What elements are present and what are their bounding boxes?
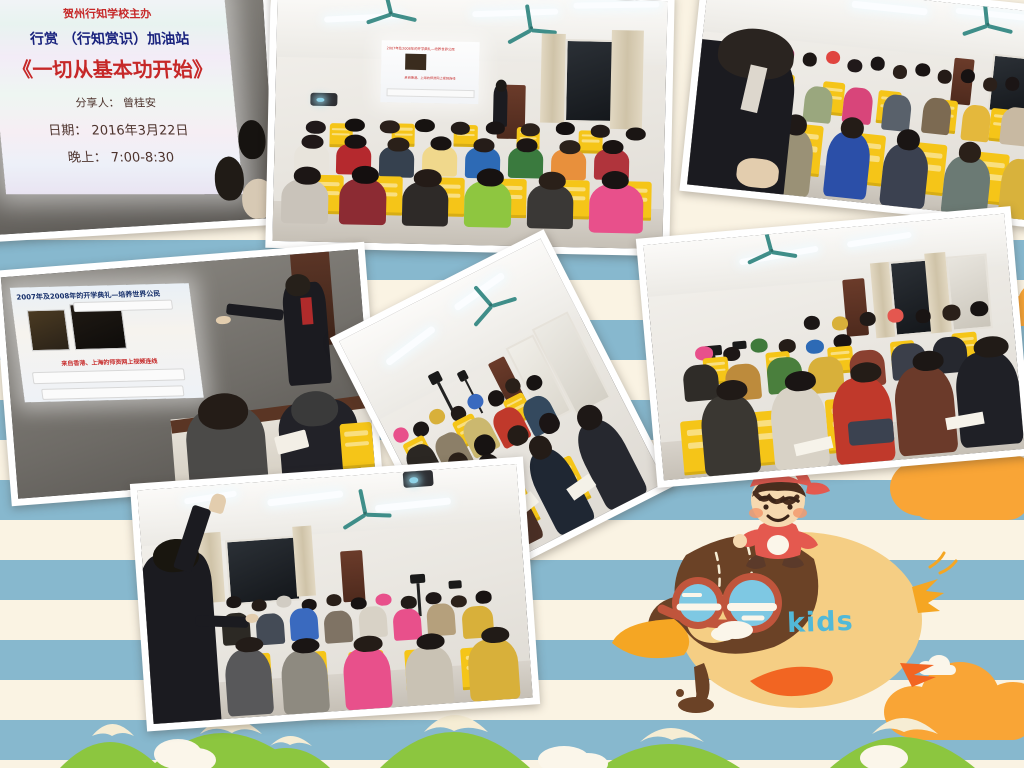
photo-lecture-hall-from-back[interactable]: 2007年及2008年的开学典礼—培养世界公民 来自香港、上海的师资网上视频连线 (265, 0, 674, 256)
photo-speaker-facing-audience[interactable] (679, 0, 1024, 228)
second-slide-surface: 2007年及2008年的开学典礼—培养世界公民 来自香港、上海的师资网上视频连线 (9, 283, 203, 403)
photo-audience-wide-right[interactable] (636, 206, 1024, 488)
slide-line-1: 贺州行知学校主办 (0, 6, 226, 22)
mascot-kids-caption: kids (786, 606, 854, 639)
slide-line-6: 晚上： 7:00-8:30 (1, 147, 240, 166)
slide-line-3: 《一切从基本功开始》 (0, 54, 232, 83)
second-slide-subtitle: 来自香港、上海的师资网上视频连线 (30, 354, 189, 367)
photo-projected-title-slide[interactable]: 贺州行知学校主办 行赏 （行知赏识）加油站 《一切从基本功开始》 分享人： 曾桂… (0, 0, 284, 243)
title-slide-surface: 贺州行知学校主办 行赏 （行知赏识）加油站 《一切从基本功开始》 分享人： 曾桂… (0, 0, 243, 195)
slide-line-5: 日期： 2016年3月22日 (0, 120, 237, 139)
slide-line-4: 分享人： 曾桂安 (0, 95, 235, 111)
photo-speaker-pointing-upward[interactable] (130, 457, 540, 732)
mascot-aviator-duck (600, 455, 960, 735)
slide-line-2: 行赏 （行知赏识）加油站 (0, 29, 229, 49)
photo-presenter-pointing-at-slide[interactable]: 2007年及2008年的开学典礼—培养世界公民 来自香港、上海的师资网上视频连线 (0, 242, 383, 506)
collage-canvas: kids 贺州行知学校主办 行赏 （行知赏识）加油站 《一切从基本功开始》 分享… (0, 0, 1024, 768)
